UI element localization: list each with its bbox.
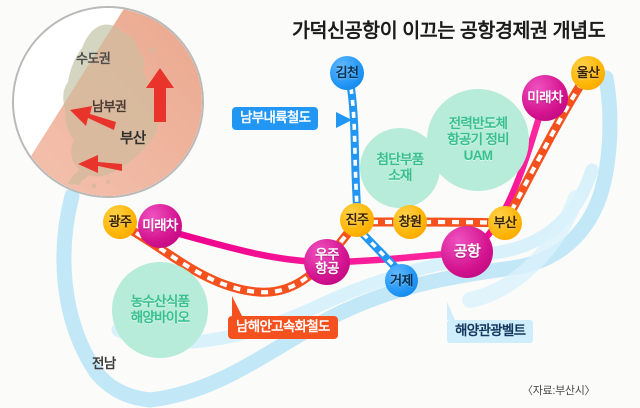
- node-label: 미래차: [527, 91, 562, 105]
- node-airport[interactable]: 공항: [441, 226, 493, 278]
- callout-nambu-inland-railway[interactable]: 남부내륙철도: [232, 107, 318, 130]
- callout-namhaean-hs-railway[interactable]: 남해안고속화철도: [228, 316, 338, 339]
- node-aerospace[interactable]: 우주 항공: [304, 239, 350, 285]
- node-label: 울산: [577, 66, 600, 79]
- node-geoje[interactable]: 거제: [385, 264, 418, 297]
- infographic-canvas: 가덕신공항이 이끄는 공항경제권 개념도 〈자료:부산시〉: [0, 0, 640, 408]
- callout-label: 남부내륙철도: [240, 110, 310, 125]
- blob-line: 전력반도체: [447, 116, 509, 132]
- node-label: 공항: [454, 244, 480, 259]
- inset-label-southern-region: 남부권: [92, 96, 126, 115]
- node-mirae-car-west[interactable]: 미래차: [138, 204, 182, 248]
- callout-label: 해양관광벨트: [455, 323, 525, 338]
- region-label-jeonnam: 전남: [92, 352, 116, 372]
- node-gwangju[interactable]: 광주: [103, 205, 137, 239]
- node-label: 거제: [390, 274, 413, 287]
- node-busan[interactable]: 부산: [488, 206, 522, 240]
- blob-line: UAM: [447, 148, 509, 164]
- node-changwon[interactable]: 창원: [393, 205, 427, 239]
- blob-line: 농수산식품: [131, 294, 190, 310]
- node-label: 진주: [346, 213, 369, 226]
- page-title: 가덕신공항이 이끄는 공항경제권 개념도: [292, 14, 605, 43]
- blob-line: 항공기 정비: [447, 132, 509, 148]
- source-credit: 〈자료:부산시〉: [522, 382, 595, 398]
- blob-power-semi-uam: 전력반도체 항공기 정비 UAM: [427, 89, 529, 191]
- inset-label-busan: 부산: [120, 127, 146, 148]
- node-label: 우주: [315, 248, 339, 262]
- node-mirae-car-east[interactable]: 미래차: [522, 75, 568, 121]
- callout-label: 남해안고속화철도: [236, 319, 330, 334]
- node-label: 광주: [109, 215, 132, 228]
- node-jinju[interactable]: 진주: [340, 203, 374, 237]
- node-label: 미래차: [142, 219, 177, 233]
- blob-line: 해양바이오: [131, 310, 190, 326]
- node-label: 부산: [494, 216, 517, 229]
- node-label: 창원: [399, 215, 422, 228]
- blob-line: 첨단부품: [377, 152, 424, 168]
- node-ulsan[interactable]: 울산: [571, 56, 605, 90]
- node-label: 항공: [315, 262, 339, 276]
- blob-line: 소재: [377, 168, 424, 184]
- korea-locator-map: 수도권 남부권 부산: [12, 6, 204, 198]
- callout-marine-tourism-belt[interactable]: 해양관광벨트: [447, 320, 533, 343]
- inset-label-capital-region: 수도권: [76, 48, 110, 67]
- blob-agri-marine-bio: 농수산식품 해양바이오: [112, 262, 208, 358]
- node-label: 김천: [336, 66, 359, 79]
- node-gimcheon[interactable]: 김천: [330, 56, 364, 90]
